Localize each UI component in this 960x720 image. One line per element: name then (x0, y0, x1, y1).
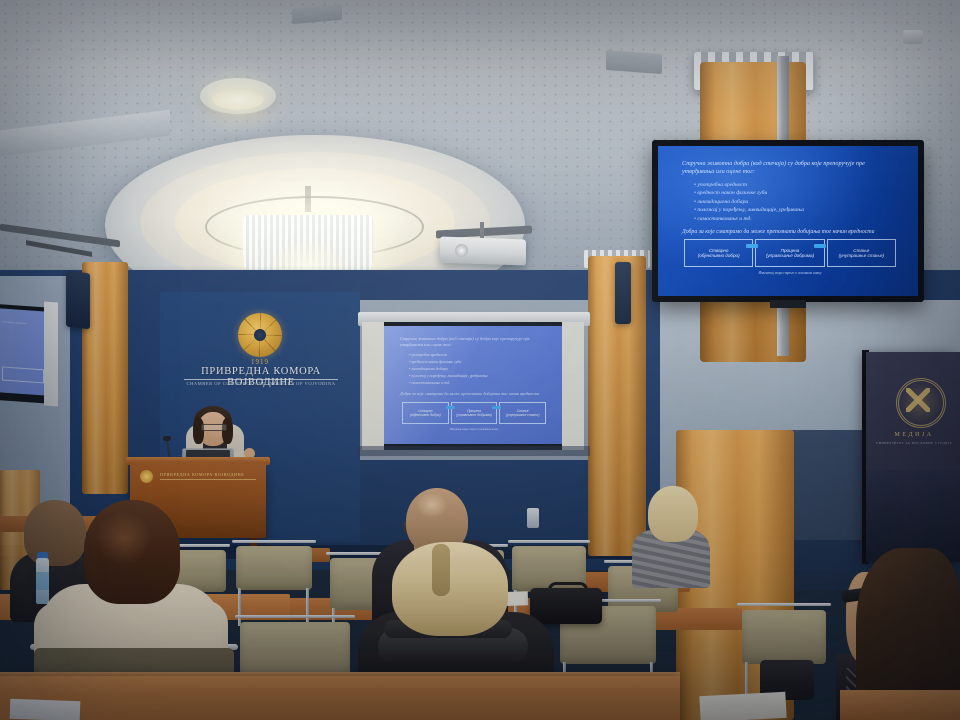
presenter-hair-right (222, 418, 233, 444)
ceiling-lamp-icon (212, 88, 264, 110)
projection-screen-border-left (362, 322, 384, 450)
audience-blonde-hair-part (432, 544, 450, 596)
projector-lens-icon (455, 244, 468, 257)
water-bottle-label (36, 572, 49, 590)
tv-mount-bracket (770, 300, 806, 308)
wall-speaker-left (66, 271, 90, 330)
side-monitor-slide-text: • употребна вредност (2, 320, 46, 326)
ceiling-sensor-icon (903, 30, 923, 44)
audience-woman-grey-top-hair (648, 486, 698, 542)
audience-person-back-left-hair (24, 500, 86, 566)
ceiling-vent-icon (606, 50, 662, 74)
projection-screen-shadow (358, 446, 590, 456)
presenter-hair-left (193, 418, 204, 444)
podium-text-divider (160, 479, 256, 480)
audience-woman-beige-coat-hair-highlight (96, 512, 152, 564)
banner-title: МЕДИЈА (874, 432, 954, 438)
tv-screen-glare (658, 146, 918, 296)
table-bottom-right (840, 690, 960, 720)
conference-hall-photo: 1919 ПРИВРЕДНА КОМОРА ВОЈВОДИНЕ CHAMBER … (0, 0, 960, 720)
banner-subtitle: УНИВЕРЗИТЕТ ЗА ПОСЛОВНЕ СТУДИЈЕ (868, 441, 960, 445)
podium-microphone (163, 436, 171, 441)
podium-chamber-text: ПРИВРЕДНА КОМОРА ВОЈВОДИНЕ (160, 472, 256, 477)
presenter-glasses-icon (201, 424, 227, 431)
wall-speaker-center (615, 262, 631, 324)
foreground-table (0, 676, 680, 720)
chamber-name-divider (184, 379, 338, 380)
chamber-founding-year: 1919 (238, 358, 282, 366)
projection-screen-border-right (562, 322, 584, 450)
black-handbag-on-table (530, 588, 602, 624)
projection-screen-glare (384, 326, 562, 444)
chamber-emblem-center-icon (254, 329, 266, 341)
chamber-name-english: CHAMBER OF COMMERCE AND INDUSTRY OF VOJV… (178, 381, 344, 386)
audience-blonde-hair (392, 542, 508, 636)
side-monitor-bezel (44, 302, 58, 407)
side-monitor[interactable]: • употребна вредност (0, 308, 50, 396)
side-monitor-diagram-box (2, 366, 44, 383)
banner-emblem-inner-icon (906, 388, 930, 412)
papers-on-foreground-table (10, 699, 81, 720)
documents-on-table (699, 692, 786, 720)
wall-outlet-icon (527, 508, 539, 528)
chandelier-stem (305, 186, 311, 212)
audience-bald-man-head-highlight (416, 492, 448, 518)
ceiling-projector (440, 236, 526, 265)
podium-emblem-icon (140, 470, 153, 483)
